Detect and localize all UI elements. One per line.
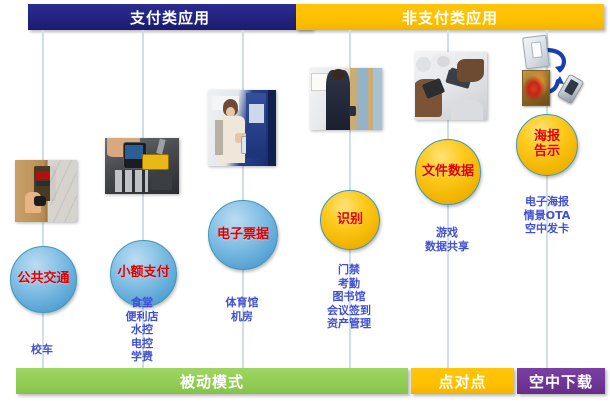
nfc-application-diagram: 支付类应用 非支付类应用 xyxy=(0,0,610,403)
node-identification[interactable]: 识别 xyxy=(320,190,380,250)
sublist-file-data-items: 游戏 数据共享 xyxy=(425,226,469,252)
sublist-micro-payment: 食堂 便利店 水控 电控 学费 xyxy=(102,283,182,363)
node-public-transport[interactable]: 公共交通 xyxy=(10,246,77,313)
sublist-e-ticket-items: 体育馆 机房 xyxy=(226,296,259,322)
category-bar-non-payment-label: 非支付类应用 xyxy=(402,7,498,28)
node-file-data[interactable]: 文件数据 xyxy=(415,139,481,205)
photo-transit-gate xyxy=(15,160,77,222)
node-identification-label: 识别 xyxy=(337,213,363,228)
node-micro-payment-label: 小额支付 xyxy=(117,266,169,281)
poster-icon xyxy=(522,70,550,106)
mode-bar-passive: 被动模式 xyxy=(16,368,408,394)
sublist-micro-payment-items: 食堂 便利店 水控 电控 学费 xyxy=(126,296,159,363)
photo-poster-tag xyxy=(512,36,584,106)
sublist-e-ticket: 体育馆 机房 xyxy=(202,283,282,323)
category-bar-non-payment: 非支付类应用 xyxy=(296,4,604,30)
photo-kiosk-woman xyxy=(208,90,276,166)
sublist-public-transport: 校车 xyxy=(2,330,82,357)
photo-phone-sharing xyxy=(415,52,487,120)
category-bar-payment: 支付类应用 xyxy=(28,4,312,30)
category-bar-payment-label: 支付类应用 xyxy=(130,7,210,28)
sublist-public-transport-items: 校车 xyxy=(31,343,53,356)
sublist-identification: 门禁 考勤 图书馆 会议签到 资产管理 xyxy=(309,250,389,330)
sublist-poster-notice: 电子海报 情景OTA 空中发卡 xyxy=(506,182,588,236)
photo-pos-terminal xyxy=(105,138,179,194)
mode-bar-over-the-air: 空中下载 xyxy=(517,368,605,394)
sublist-identification-items: 门禁 考勤 图书馆 会议签到 资产管理 xyxy=(327,263,371,330)
mode-bar-over-the-air-label: 空中下载 xyxy=(529,371,593,392)
node-poster-notice[interactable]: 海报 告示 xyxy=(516,114,578,176)
mode-bar-peer-to-peer: 点对点 xyxy=(411,368,514,394)
mode-bar-passive-label: 被动模式 xyxy=(180,371,244,392)
node-poster-notice-label: 海报 告示 xyxy=(534,130,560,159)
sublist-file-data: 游戏 数据共享 xyxy=(407,213,487,253)
node-public-transport-label: 公共交通 xyxy=(17,272,69,287)
sublist-poster-notice-items: 电子海报 情景OTA 空中发卡 xyxy=(524,195,571,235)
node-file-data-label: 文件数据 xyxy=(422,165,474,180)
wall-reader-icon xyxy=(522,35,550,70)
mode-bar-peer-to-peer-label: 点对点 xyxy=(438,371,486,392)
node-e-ticket-label: 电子票据 xyxy=(217,228,269,243)
photo-door-access xyxy=(310,68,382,130)
node-e-ticket[interactable]: 电子票据 xyxy=(208,200,278,270)
